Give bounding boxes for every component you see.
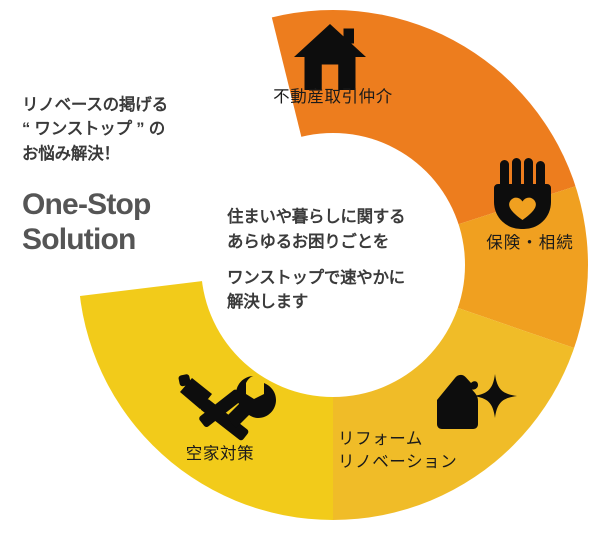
page-title: One-Stop Solution (22, 188, 227, 258)
segment-label-reform[interactable]: リフォーム リノベーション (338, 428, 498, 475)
lead-line-2: “ ワンストップ ” の (22, 117, 227, 141)
segment-label-insurance[interactable]: 保険・相続 (470, 232, 590, 255)
segment-label-real-estate[interactable]: 不動産取引仲介 (243, 86, 423, 109)
segment-label-vacant-house[interactable]: 空家対策 (160, 443, 280, 466)
center-paragraph2-line2: 解決します (227, 290, 457, 315)
left-text-block: リノベースの掲げる “ ワンストップ ” の お悩み解決！ One-Stop S… (22, 93, 227, 258)
lead-line-1: リノベースの掲げる (22, 93, 227, 117)
center-paragraph1-line2: あらゆるお困りごとを (227, 230, 457, 255)
lead-line-3: お悩み解決！ (22, 142, 227, 166)
headline-line-2: Solution (22, 223, 227, 258)
center-paragraph1-line1: 住まいや暮らしに関する (227, 205, 457, 230)
segment-label-reform-line1: リフォーム (338, 428, 498, 451)
one-stop-solution-infographic: リノベースの掲げる “ ワンストップ ” の お悩み解決！ One-Stop S… (0, 0, 600, 533)
headline-line-1: One-Stop (22, 188, 151, 221)
center-text-block: 住まいや暮らしに関する あらゆるお困りごとを ワンストップで速やかに 解決します (227, 205, 457, 315)
center-paragraph-gap (227, 255, 457, 266)
segment-label-reform-line2: リノベーション (338, 451, 498, 474)
center-paragraph2-line1: ワンストップで速やかに (227, 266, 457, 291)
